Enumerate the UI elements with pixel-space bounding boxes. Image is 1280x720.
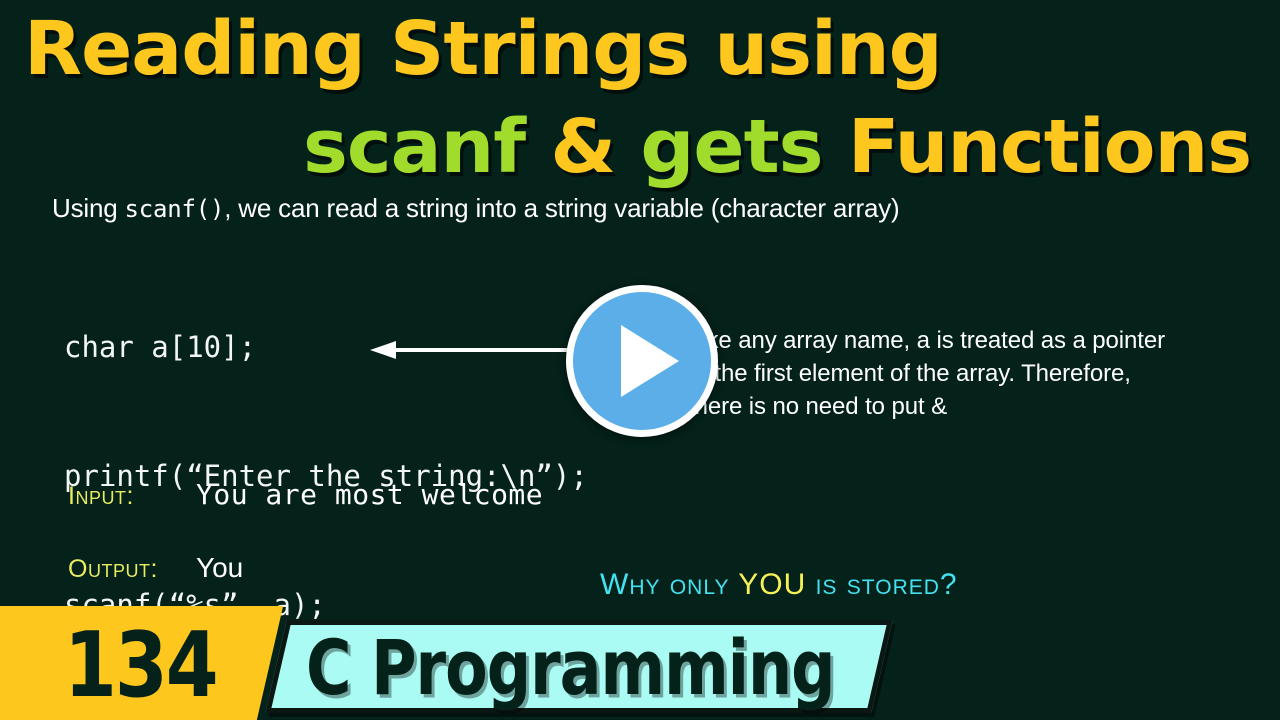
question-highlight: YOU xyxy=(738,568,806,601)
input-row: Input: You are most welcome xyxy=(68,478,543,511)
note-line-3: there is no need to put & xyxy=(688,390,1268,423)
subtitle-text: Using scanf(), we can read a string into… xyxy=(52,193,900,224)
course-name-label: C Programming xyxy=(306,623,834,712)
note-line-1: Like any array name, a is treated as a p… xyxy=(688,324,1268,357)
input-value: You are most welcome xyxy=(196,478,543,511)
title-line-1: Reading Strings using xyxy=(24,6,942,92)
play-triangle-icon xyxy=(621,325,679,397)
question-after: is stored? xyxy=(806,568,957,601)
question-text: Why only YOU is stored? xyxy=(600,568,958,602)
title-line-2: scanf & gets Functions xyxy=(303,104,1251,190)
subtitle-code-token: scanf() xyxy=(125,195,225,223)
question-before: Why only xyxy=(600,568,738,601)
pointer-note-text: Like any array name, a is treated as a p… xyxy=(688,324,1268,423)
note-line-2: to the first element of the array. There… xyxy=(688,357,1268,390)
input-label: Input: xyxy=(68,482,196,511)
title-gets-word: gets xyxy=(640,104,822,190)
video-slide: Reading Strings using scanf & gets Funct… xyxy=(0,0,1280,720)
title-ampersand: & xyxy=(525,104,640,190)
title-scanf-word: scanf xyxy=(303,104,525,190)
subtitle-before: Using xyxy=(52,193,125,223)
title-functions-word: Functions xyxy=(823,104,1252,190)
play-button[interactable] xyxy=(566,285,718,437)
output-row: Output: You xyxy=(68,552,243,584)
episode-number-label: 134 xyxy=(64,612,217,717)
output-value: You xyxy=(196,552,243,584)
subtitle-after: , we can read a string into a string var… xyxy=(224,193,899,223)
output-label: Output: xyxy=(68,555,196,584)
